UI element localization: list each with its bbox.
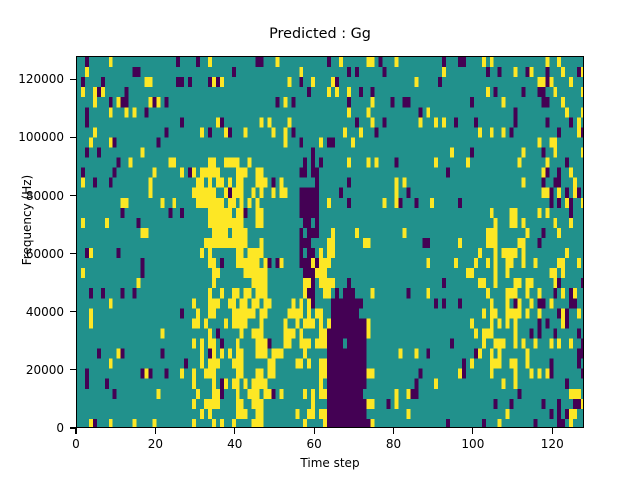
x-tick-label: 20	[135, 437, 175, 451]
x-tick-mark	[393, 428, 394, 434]
y-axis-label: Frequency (Hz)	[20, 140, 34, 300]
matplotlib-figure: Predicted : Gg Frequency (Hz) Time step …	[0, 0, 640, 480]
x-tick-mark	[472, 428, 473, 434]
chart-title: Predicted : Gg	[0, 26, 640, 43]
y-tick-label: 20000	[0, 363, 64, 377]
x-tick-label: 40	[215, 437, 255, 451]
spectrogram-image	[77, 57, 584, 428]
x-tick-mark	[234, 428, 235, 434]
x-tick-label: 60	[294, 437, 334, 451]
x-tick-label: 80	[374, 437, 414, 451]
x-tick-mark	[155, 428, 156, 434]
x-tick-mark	[552, 428, 553, 434]
x-tick-label: 100	[453, 437, 493, 451]
x-tick-mark	[75, 428, 76, 434]
x-tick-mark	[314, 428, 315, 434]
x-tick-label: 120	[532, 437, 572, 451]
y-tick-label: 60000	[0, 247, 64, 261]
y-tick-label: 100000	[0, 130, 64, 144]
x-tick-label: 0	[56, 437, 96, 451]
y-tick-label: 80000	[0, 189, 64, 203]
x-axis-label: Time step	[76, 456, 584, 470]
y-tick-label: 0	[0, 421, 64, 435]
heatmap-plot-area	[76, 56, 584, 428]
y-tick-label: 40000	[0, 305, 64, 319]
y-tick-label: 120000	[0, 72, 64, 86]
